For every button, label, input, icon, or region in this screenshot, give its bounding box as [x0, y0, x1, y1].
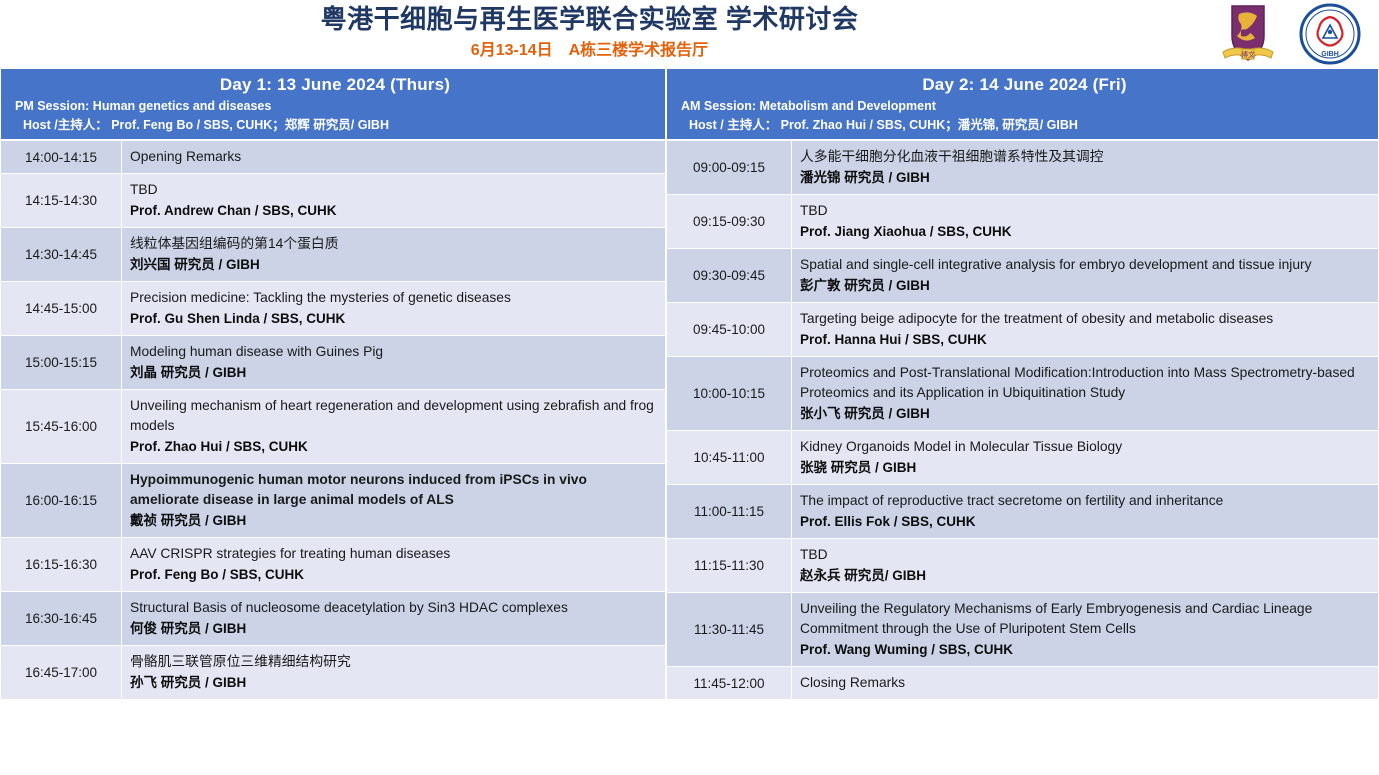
- session-title: TBD: [800, 545, 1370, 565]
- session-speaker: Prof. Hanna Hui / SBS, CUHK: [800, 329, 1370, 350]
- session-topic-cell: AAV CRISPR strategies for treating human…: [122, 538, 666, 592]
- table-row: 09:15-09:30TBDProf. Jiang Xiaohua / SBS,…: [667, 195, 1379, 249]
- session-title: 线粒体基因组编码的第14个蛋白质: [130, 234, 657, 254]
- schedule-grid: Day 1: 13 June 2024 (Thurs) PM Session: …: [0, 68, 1379, 775]
- session-time: 09:30-09:45: [667, 249, 792, 303]
- session-time: 15:00-15:15: [1, 336, 122, 390]
- session-topic-cell: Modeling human disease with Guines Pig刘晶…: [122, 336, 666, 390]
- page-subtitle: 6月13-14日 A栋三楼学术报告厅: [0, 36, 1179, 62]
- session-title: Hypoimmunogenic human motor neurons indu…: [130, 470, 657, 510]
- day2-column: Day 2: 14 June 2024 (Fri) AM Session: Me…: [666, 68, 1379, 700]
- session-time: 16:30-16:45: [1, 592, 122, 646]
- day1-column: Day 1: 13 June 2024 (Thurs) PM Session: …: [0, 68, 666, 700]
- session-title: Closing Remarks: [800, 673, 1370, 693]
- session-title: Opening Remarks: [130, 147, 657, 167]
- session-speaker: Prof. Feng Bo / SBS, CUHK: [130, 564, 657, 585]
- day1-host: Host /主持人： Prof. Feng Bo / SBS, CUHK；郑辉 …: [15, 116, 655, 135]
- session-title: AAV CRISPR strategies for treating human…: [130, 544, 657, 564]
- session-speaker: 孙飞 研究员 / GIBH: [130, 672, 657, 693]
- session-speaker: 刘兴国 研究员 / GIBH: [130, 254, 657, 275]
- session-time: 11:45-12:00: [667, 667, 792, 700]
- session-title: Unveiling mechanism of heart regeneratio…: [130, 396, 657, 436]
- table-row: 14:30-14:45线粒体基因组编码的第14个蛋白质刘兴国 研究员 / GIB…: [1, 228, 666, 282]
- table-row: 11:45-12:00Closing Remarks: [667, 667, 1379, 700]
- session-speaker: 张骁 研究员 / GIBH: [800, 457, 1370, 478]
- session-speaker: Prof. Zhao Hui / SBS, CUHK: [130, 436, 657, 457]
- session-time: 09:45-10:00: [667, 303, 792, 357]
- session-title: The impact of reproductive tract secreto…: [800, 491, 1370, 511]
- table-row: 16:45-17:00骨骼肌三联管原位三维精细结构研究孙飞 研究员 / GIBH: [1, 646, 666, 700]
- session-time: 14:45-15:00: [1, 282, 122, 336]
- day1-session: PM Session: Human genetics and diseases: [15, 97, 655, 116]
- session-time: 16:45-17:00: [1, 646, 122, 700]
- session-topic-cell: 人多能干细胞分化血液干祖细胞谱系特性及其调控潘光锦 研究员 / GIBH: [792, 141, 1379, 195]
- page-title: 粤港干细胞与再生医学联合实验室 学术研讨会: [0, 0, 1179, 36]
- session-title: Spatial and single-cell integrative anal…: [800, 255, 1370, 275]
- session-topic-cell: 骨骼肌三联管原位三维精细结构研究孙飞 研究员 / GIBH: [122, 646, 666, 700]
- session-topic-cell: Kidney Organoids Model in Molecular Tiss…: [792, 431, 1379, 485]
- session-time: 16:00-16:15: [1, 464, 122, 538]
- session-topic-cell: Precision medicine: Tackling the mysteri…: [122, 282, 666, 336]
- day1-title: Day 1: 13 June 2024 (Thurs): [15, 73, 655, 97]
- session-time: 10:00-10:15: [667, 357, 792, 431]
- gibh-logo: GIBH: [1299, 3, 1361, 65]
- table-row: 09:45-10:00Targeting beige adipocyte for…: [667, 303, 1379, 357]
- session-topic-cell: Spatial and single-cell integrative anal…: [792, 249, 1379, 303]
- title-banner: 粤港干细胞与再生医学联合实验室 学术研讨会 6月13-14日 A栋三楼学术报告厅…: [0, 0, 1379, 68]
- session-title: Kidney Organoids Model in Molecular Tiss…: [800, 437, 1370, 457]
- session-time: 11:30-11:45: [667, 593, 792, 667]
- session-time: 16:15-16:30: [1, 538, 122, 592]
- session-speaker: 潘光锦 研究员 / GIBH: [800, 167, 1370, 188]
- session-title: Proteomics and Post-Translational Modifi…: [800, 363, 1370, 403]
- session-title: TBD: [800, 201, 1370, 221]
- session-time: 11:00-11:15: [667, 485, 792, 539]
- day2-title: Day 2: 14 June 2024 (Fri): [681, 73, 1368, 97]
- table-row: 16:00-16:15Hypoimmunogenic human motor n…: [1, 464, 666, 538]
- cuhk-logo: 博文: [1219, 2, 1277, 66]
- table-row: 10:45-11:00Kidney Organoids Model in Mol…: [667, 431, 1379, 485]
- session-topic-cell: TBD赵永兵 研究员/ GIBH: [792, 539, 1379, 593]
- session-speaker: Prof. Ellis Fok / SBS, CUHK: [800, 511, 1370, 532]
- session-speaker: 刘晶 研究员 / GIBH: [130, 362, 657, 383]
- table-row: 10:00-10:15Proteomics and Post-Translati…: [667, 357, 1379, 431]
- banner-text-block: 粤港干细胞与再生医学联合实验室 学术研讨会 6月13-14日 A栋三楼学术报告厅: [0, 0, 1379, 62]
- session-time: 09:00-09:15: [667, 141, 792, 195]
- session-topic-cell: Unveiling the Regulatory Mechanisms of E…: [792, 593, 1379, 667]
- logo-group: 博文 GIBH: [1219, 2, 1361, 66]
- session-title: 人多能干细胞分化血液干祖细胞谱系特性及其调控: [800, 147, 1370, 167]
- session-speaker: 彭广敦 研究员 / GIBH: [800, 275, 1370, 296]
- table-row: 15:00-15:15Modeling human disease with G…: [1, 336, 666, 390]
- session-time: 10:45-11:00: [667, 431, 792, 485]
- session-title: TBD: [130, 180, 657, 200]
- session-title: Structural Basis of nucleosome deacetyla…: [130, 598, 657, 618]
- session-topic-cell: 线粒体基因组编码的第14个蛋白质刘兴国 研究员 / GIBH: [122, 228, 666, 282]
- session-time: 09:15-09:30: [667, 195, 792, 249]
- table-row: 15:45-16:00Unveiling mechanism of heart …: [1, 390, 666, 464]
- session-speaker: Prof. Jiang Xiaohua / SBS, CUHK: [800, 221, 1370, 242]
- session-topic-cell: Closing Remarks: [792, 667, 1379, 700]
- table-row: 11:00-11:15The impact of reproductive tr…: [667, 485, 1379, 539]
- day1-table: 14:00-14:15Opening Remarks14:15-14:30TBD…: [0, 140, 666, 700]
- session-time: 14:00-14:15: [1, 141, 122, 174]
- session-title: Targeting beige adipocyte for the treatm…: [800, 309, 1370, 329]
- table-row: 14:00-14:15Opening Remarks: [1, 141, 666, 174]
- session-topic-cell: Structural Basis of nucleosome deacetyla…: [122, 592, 666, 646]
- svg-text:GIBH: GIBH: [1321, 51, 1339, 58]
- session-title: Modeling human disease with Guines Pig: [130, 342, 657, 362]
- table-row: 09:00-09:15人多能干细胞分化血液干祖细胞谱系特性及其调控潘光锦 研究员…: [667, 141, 1379, 195]
- session-speaker: 何俊 研究员 / GIBH: [130, 618, 657, 639]
- session-title: 骨骼肌三联管原位三维精细结构研究: [130, 652, 657, 672]
- session-topic-cell: Hypoimmunogenic human motor neurons indu…: [122, 464, 666, 538]
- day2-header: Day 2: 14 June 2024 (Fri) AM Session: Me…: [666, 68, 1379, 140]
- session-topic-cell: Unveiling mechanism of heart regeneratio…: [122, 390, 666, 464]
- table-row: 11:15-11:30TBD赵永兵 研究员/ GIBH: [667, 539, 1379, 593]
- session-time: 14:30-14:45: [1, 228, 122, 282]
- session-topic-cell: Proteomics and Post-Translational Modifi…: [792, 357, 1379, 431]
- session-time: 15:45-16:00: [1, 390, 122, 464]
- session-speaker: Prof. Andrew Chan / SBS, CUHK: [130, 200, 657, 221]
- day2-session: AM Session: Metabolism and Development: [681, 97, 1368, 116]
- session-topic-cell: TBDProf. Andrew Chan / SBS, CUHK: [122, 174, 666, 228]
- session-topic-cell: Opening Remarks: [122, 141, 666, 174]
- session-title: Unveiling the Regulatory Mechanisms of E…: [800, 599, 1370, 639]
- session-topic-cell: Targeting beige adipocyte for the treatm…: [792, 303, 1379, 357]
- day2-host: Host / 主持人： Prof. Zhao Hui / SBS, CUHK；潘…: [681, 116, 1368, 135]
- session-speaker: 戴祯 研究员 / GIBH: [130, 510, 657, 531]
- session-speaker: 赵永兵 研究员/ GIBH: [800, 565, 1370, 586]
- table-row: 09:30-09:45Spatial and single-cell integ…: [667, 249, 1379, 303]
- table-row: 16:30-16:45Structural Basis of nucleosom…: [1, 592, 666, 646]
- session-topic-cell: The impact of reproductive tract secreto…: [792, 485, 1379, 539]
- table-row: 14:45-15:00Precision medicine: Tackling …: [1, 282, 666, 336]
- svg-text:博文: 博文: [1241, 50, 1255, 59]
- session-title: Precision medicine: Tackling the mysteri…: [130, 288, 657, 308]
- session-topic-cell: TBDProf. Jiang Xiaohua / SBS, CUHK: [792, 195, 1379, 249]
- session-time: 11:15-11:30: [667, 539, 792, 593]
- session-speaker: 张小飞 研究员 / GIBH: [800, 403, 1370, 424]
- day1-header: Day 1: 13 June 2024 (Thurs) PM Session: …: [0, 68, 666, 140]
- day2-table: 09:00-09:15人多能干细胞分化血液干祖细胞谱系特性及其调控潘光锦 研究员…: [666, 140, 1379, 700]
- table-row: 11:30-11:45Unveiling the Regulatory Mech…: [667, 593, 1379, 667]
- session-speaker: Prof. Wang Wuming / SBS, CUHK: [800, 639, 1370, 660]
- table-row: 14:15-14:30TBDProf. Andrew Chan / SBS, C…: [1, 174, 666, 228]
- table-row: 16:15-16:30AAV CRISPR strategies for tre…: [1, 538, 666, 592]
- session-time: 14:15-14:30: [1, 174, 122, 228]
- session-speaker: Prof. Gu Shen Linda / SBS, CUHK: [130, 308, 657, 329]
